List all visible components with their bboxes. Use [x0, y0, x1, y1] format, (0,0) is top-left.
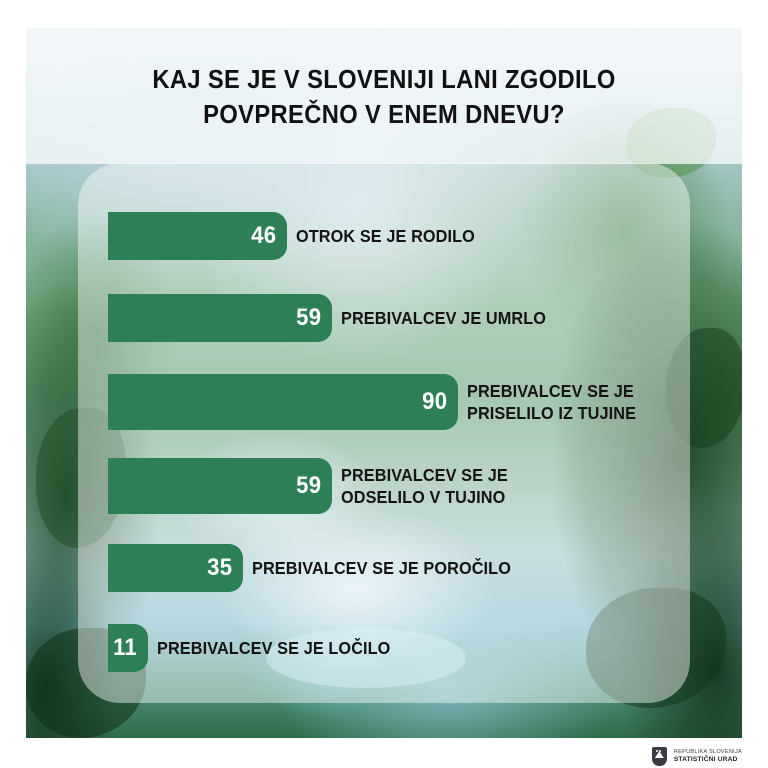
bar-row: 59PREBIVALCEV JE UMRLO	[108, 294, 561, 342]
bar-fill: 59	[108, 294, 332, 342]
bar-fill: 59	[108, 458, 332, 514]
bar-value: 90	[422, 390, 447, 414]
bar-fill: 35	[108, 544, 243, 592]
bar-row: 90PREBIVALCEV SE JE PRISELILO IZ TUJINE	[108, 374, 649, 430]
bar-value: 46	[251, 224, 276, 248]
bar-label: PREBIVALCEV JE UMRLO	[341, 307, 546, 329]
bar-fill: 46	[108, 212, 287, 260]
bar-row: 46OTROK SE JE RODILO	[108, 212, 488, 260]
bar-label: PREBIVALCEV SE JE POROČILO	[252, 557, 511, 579]
coat-of-arms-icon	[652, 747, 667, 766]
bar-row: 11PREBIVALCEV SE JE LOČILO	[108, 624, 408, 672]
organisation-line-1: REPUBLIKA SLOVENIJA	[674, 750, 742, 756]
bar-value: 59	[296, 306, 321, 330]
bar-label: PREBIVALCEV SE JE PRISELILO IZ TUJINE	[467, 380, 636, 424]
bar-fill: 11	[108, 624, 148, 672]
bar-fill: 90	[108, 374, 458, 430]
bar-value: 11	[113, 636, 137, 660]
organisation-line-2: STATISTIČNI URAD	[674, 757, 742, 764]
bar-row: 35PREBIVALCEV SE JE POROČILO	[108, 544, 530, 592]
bar-chart: 46OTROK SE JE RODILO59PREBIVALCEV JE UMR…	[0, 0, 768, 768]
bar-value: 59	[296, 474, 321, 498]
bar-label: PREBIVALCEV SE JE ODSELILO V TUJINO	[341, 464, 508, 508]
bar-label: OTROK SE JE RODILO	[296, 225, 475, 247]
bar-value: 35	[207, 556, 232, 580]
bar-row: 59PREBIVALCEV SE JE ODSELILO V TUJINO	[108, 458, 520, 514]
footer-logo: REPUBLIKA SLOVENIJA STATISTIČNI URAD	[652, 747, 742, 766]
organisation-name: REPUBLIKA SLOVENIJA STATISTIČNI URAD	[674, 750, 742, 763]
bar-label: PREBIVALCEV SE JE LOČILO	[157, 637, 390, 659]
